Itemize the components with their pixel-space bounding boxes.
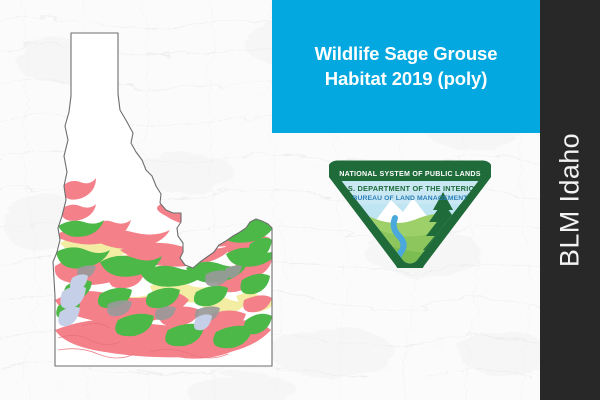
seal-top-text: NATIONAL SYSTEM OF PUBLIC LANDS — [339, 170, 480, 178]
seal-department-line: U.S. DEPARTMENT OF THE INTERIOR — [340, 184, 480, 193]
blm-seal-svg: NATIONAL SYSTEM OF PUBLIC LANDS U.S. DEP… — [329, 158, 491, 268]
agency-sidebar: BLM Idaho — [540, 0, 600, 400]
seal-bureau-line: BUREAU OF LAND MANAGEMENT — [352, 195, 468, 202]
map-graphic: Wildlife Sage Grouse Habitat 2019 (poly) — [0, 0, 600, 400]
agency-label: BLM Idaho — [555, 133, 586, 267]
seal-inner-scene — [329, 168, 491, 266]
page-title: Wildlife Sage Grouse Habitat 2019 (poly) — [315, 42, 498, 91]
title-banner: Wildlife Sage Grouse Habitat 2019 (poly) — [272, 0, 540, 133]
blm-seal-logo: NATIONAL SYSTEM OF PUBLIC LANDS U.S. DEP… — [329, 158, 491, 268]
